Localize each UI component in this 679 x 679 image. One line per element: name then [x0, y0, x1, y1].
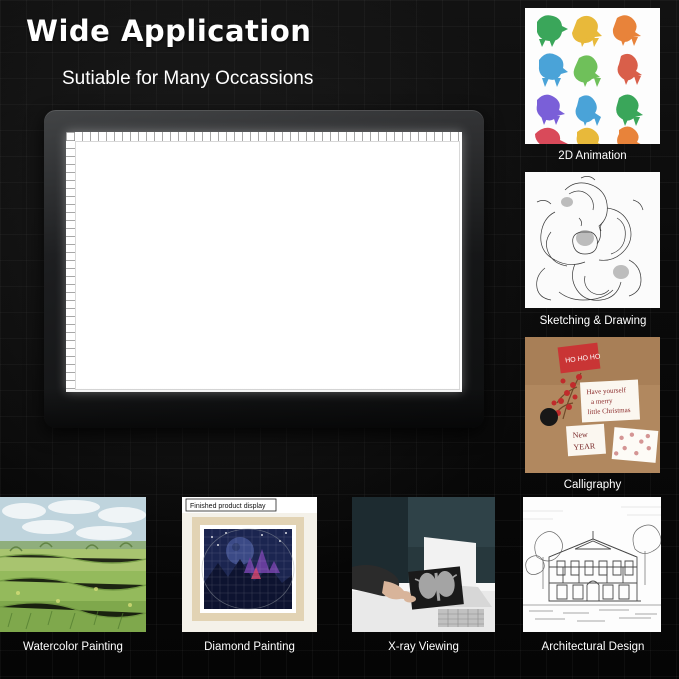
card-watercolor-painting — [0, 497, 146, 632]
promo-image: Wide Application Sutiable for Many Occas… — [0, 0, 679, 679]
thumbnail-watercolor-painting — [0, 497, 146, 632]
card-sketching-drawing — [525, 172, 660, 308]
caption-sketching-drawing: Sketching & Drawing — [518, 315, 668, 327]
page-subtitle: Sutiable for Many Occassions — [62, 68, 313, 90]
card-diamond-painting: Finished product display — [182, 497, 317, 632]
diamond-painting-label: Finished product display — [190, 503, 266, 510]
caption-xray-viewing: X-ray Viewing — [352, 641, 495, 653]
calligraphy-note-line2: a merry — [591, 397, 613, 406]
light-pad-screen — [66, 132, 462, 392]
thumbnail-architectural-design — [523, 497, 661, 632]
thumbnail-diamond-painting: Finished product display — [182, 497, 317, 632]
thumbnail-calligraphy: HO HO HO Have yourself a merry little Ch… — [525, 337, 660, 473]
light-pad-product — [44, 110, 484, 428]
calligraphy-note-bottom-line2: YEAR — [573, 441, 596, 452]
caption-2d-animation: 2D Animation — [525, 150, 660, 162]
caption-watercolor-painting: Watercolor Painting — [0, 641, 146, 653]
thumbnail-2d-animation — [525, 8, 660, 144]
card-calligraphy: HO HO HO Have yourself a merry little Ch… — [525, 337, 660, 473]
caption-diamond-painting: Diamond Painting — [178, 641, 321, 653]
card-architectural-design — [523, 497, 661, 632]
caption-architectural-design: Architectural Design — [518, 641, 668, 653]
caption-calligraphy: Calligraphy — [525, 479, 660, 491]
ruler-top-icon — [66, 132, 462, 141]
ruler-left-icon — [66, 132, 75, 392]
calligraphy-note-bottom-line1: New — [572, 430, 588, 440]
screen-inner-border — [75, 141, 460, 390]
thumbnail-xray-viewing — [352, 497, 495, 632]
card-xray-viewing — [352, 497, 495, 632]
page-title: Wide Application — [26, 14, 311, 48]
thumbnail-sketching-drawing — [525, 172, 660, 308]
card-2d-animation — [525, 8, 660, 144]
